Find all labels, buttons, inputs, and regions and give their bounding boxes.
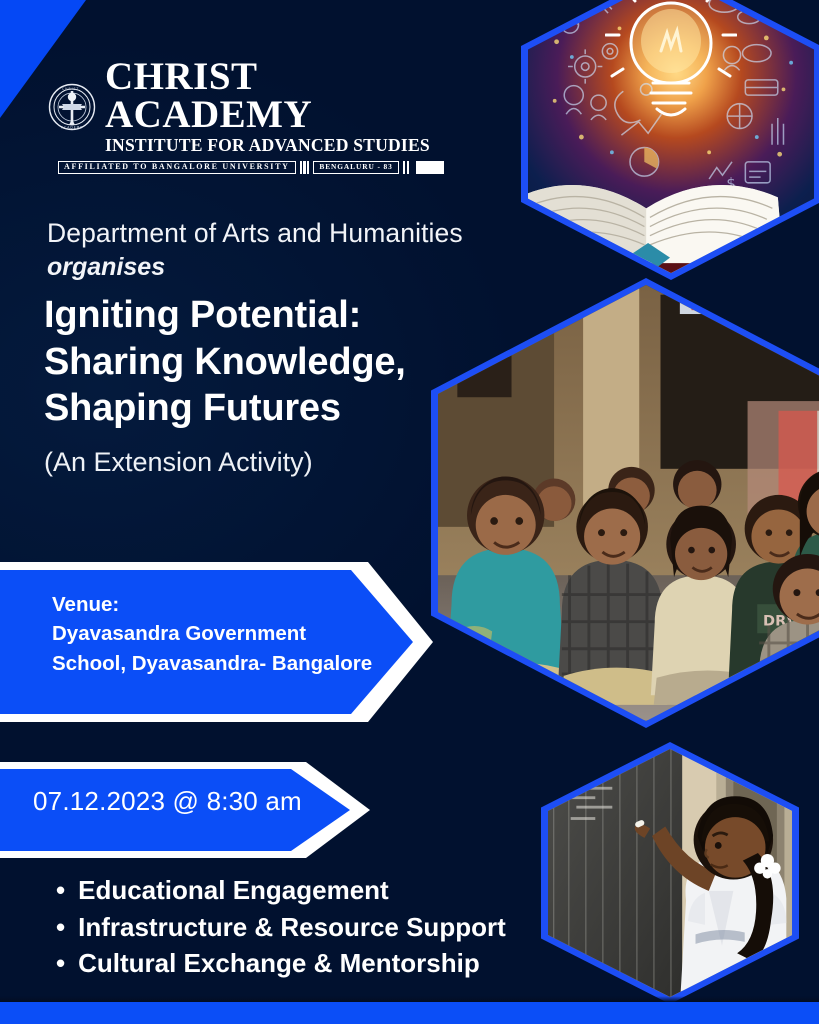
event-datetime: 07.12.2023 @ 8:30 am [33,786,302,817]
highlight-label: Cultural Exchange & Mentorship [78,945,480,982]
organises-label: organises [47,253,165,282]
list-item: • Educational Engagement [56,872,656,909]
children-sitting-photo: DRV [438,285,819,720]
location-box: BENGALURU - 83 [313,161,398,174]
hex-image-lightbulb-book-inner: $ [528,0,814,273]
bullet-icon: • [56,914,65,940]
venue-label: Venue: [52,590,442,619]
event-title-line2: Sharing Knowledge, [44,339,484,386]
event-title: Igniting Potential: Sharing Knowledge, S… [44,292,484,432]
svg-text:C H R I S T: C H R I S T [62,87,78,91]
event-poster: $ [0,0,819,1024]
venue-details: Venue: Dyavasandra Government School, Dy… [52,590,442,678]
venue-line2: School, Dyavasandra- Bangalore [52,649,442,678]
venue-line1: Dyavasandra Government [52,619,442,648]
logo-subtitle: INSTITUTE FOR ADVANCED STUDIES [105,135,448,155]
hex-image-lightbulb-book: $ [521,0,819,280]
event-title-line1: Igniting Potential: [44,292,484,339]
event-title-line3: Shaping Futures [44,385,484,432]
highlights-list: • Educational Engagement • Infrastructur… [56,872,656,982]
divider-bars-left [300,161,310,174]
strip-end-block [416,161,444,174]
list-item: • Infrastructure & Resource Support [56,909,656,946]
affiliation-strip: AFFILIATED TO BANGALORE UNIVERSITY BENGA… [58,161,444,174]
location-text: BENGALURU - 83 [319,163,392,170]
open-book-icon [528,148,785,273]
bottom-accent-bar [0,1002,819,1024]
department-name: Department of Arts and Humanities [47,218,547,249]
divider-bars-right [403,161,409,174]
hex-image-children-classroom: DRV [431,278,819,728]
highlight-label: Infrastructure & Resource Support [78,909,506,946]
hex-image-children-classroom-inner: DRV [438,285,819,721]
affiliation-box: AFFILIATED TO BANGALORE UNIVERSITY [58,161,296,174]
logo-title: CHRIST ACADEMY [105,58,448,134]
lightbulb-icon [605,0,737,149]
bullet-icon: • [56,877,65,903]
affiliation-text: AFFILIATED TO BANGALORE UNIVERSITY [64,163,290,171]
list-item: • Cultural Exchange & Mentorship [56,945,656,982]
svg-text:A C A D E M Y: A C A D E M Y [61,125,82,129]
highlight-label: Educational Engagement [78,872,389,909]
christ-academy-crest-icon: C H R I S T A C A D E M Y [48,83,96,131]
event-subtitle: (An Extension Activity) [44,447,484,478]
institution-logo: C H R I S T A C A D E M Y CHRIST ACADEMY… [48,58,448,174]
bullet-icon: • [56,950,65,976]
